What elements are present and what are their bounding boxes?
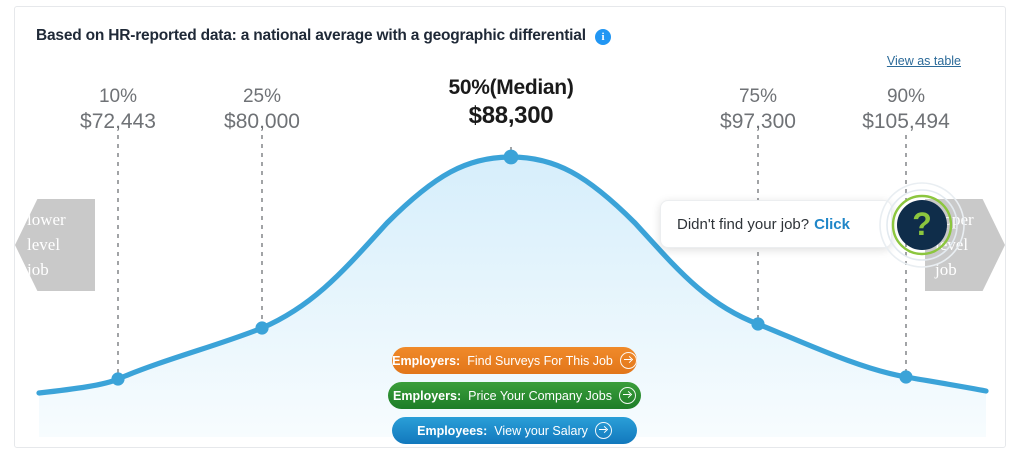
price-jobs-audience: Employers: (393, 389, 461, 403)
salary-distribution-card: Based on HR-reported data: a national av… (14, 6, 1006, 448)
help-question-badge[interactable]: ? (897, 200, 947, 250)
percentile-p75-percent: 75% (720, 85, 796, 109)
percentile-median-value: $88,300 (448, 101, 573, 131)
percentile-p10-percent: 10% (80, 85, 156, 109)
data-point-p25[interactable] (255, 321, 268, 334)
find-surveys-label: Find Surveys For This Job (467, 354, 613, 368)
help-prompt-text: Didn't find your job? (677, 216, 809, 233)
percentile-p90-percent: 90% (862, 85, 950, 109)
percentile-p25-percent: 25% (224, 85, 300, 109)
lower-banner-line-3: job (27, 257, 95, 282)
view-salary-audience: Employees: (417, 424, 487, 438)
view-your-salary-button[interactable]: Employees: View your Salary (392, 417, 637, 444)
percentile-p10-value: $72,443 (80, 109, 156, 135)
percentile-label-p25: 25% $80,000 (224, 85, 300, 135)
percentile-label-median: 50%(Median) $88,300 (448, 75, 573, 131)
cta-button-stack: Employers: Find Surveys For This Job Emp… (383, 347, 645, 448)
percentile-median-percent: 50%(Median) (448, 75, 573, 101)
percentile-p25-value: $80,000 (224, 109, 300, 135)
arrow-right-icon (595, 422, 612, 439)
percentile-label-p10: 10% $72,443 (80, 85, 156, 135)
percentile-p90-value: $105,494 (862, 109, 950, 135)
help-click-link[interactable]: Click (814, 216, 850, 233)
data-point-p50[interactable] (504, 150, 519, 165)
help-prompt-tooltip[interactable]: Didn't find your job? Click (660, 200, 892, 248)
data-point-p90[interactable] (899, 370, 912, 383)
price-jobs-label: Price Your Company Jobs (468, 389, 612, 403)
arrow-right-icon (619, 387, 636, 404)
data-point-p10[interactable] (111, 372, 124, 385)
find-surveys-audience: Employers: (392, 354, 460, 368)
data-point-p75[interactable] (751, 317, 764, 330)
percentile-label-p90: 90% $105,494 (862, 85, 950, 135)
view-salary-label: View your Salary (494, 424, 588, 438)
price-company-jobs-button[interactable]: Employers: Price Your Company Jobs (388, 382, 641, 409)
percentile-p75-value: $97,300 (720, 109, 796, 135)
arrow-right-icon (620, 352, 637, 369)
find-surveys-button[interactable]: Employers: Find Surveys For This Job (392, 347, 637, 374)
lower-banner-line-2: level (27, 232, 95, 257)
percentile-label-p75: 75% $97,300 (720, 85, 796, 135)
lower-banner-line-1: lower (27, 207, 95, 232)
